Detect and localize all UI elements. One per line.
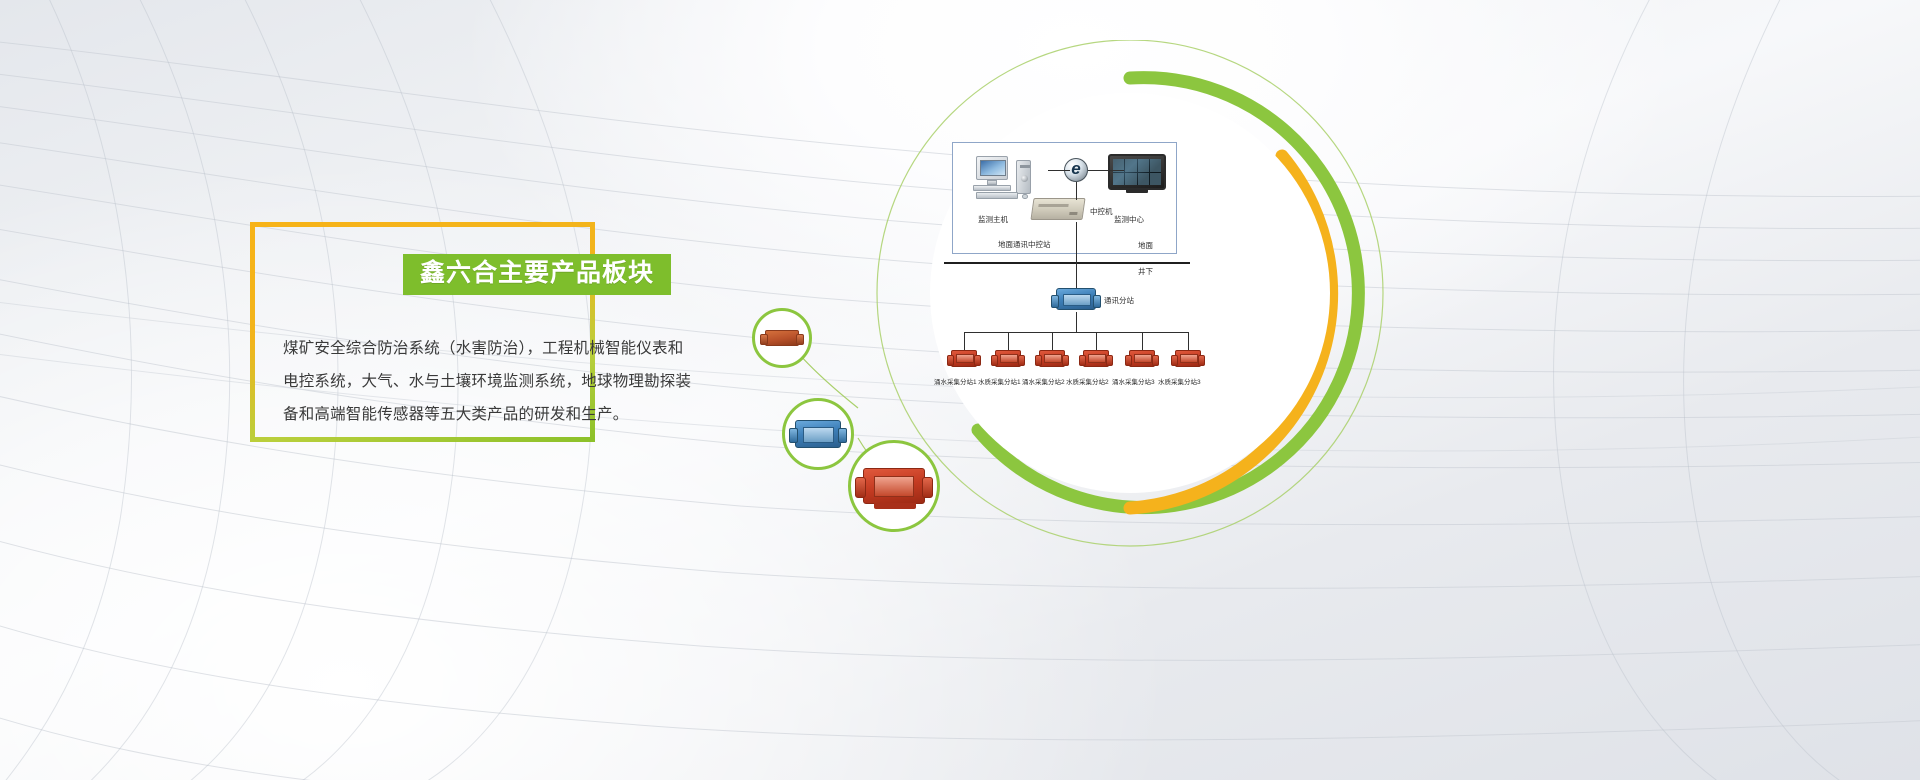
page-title-banner: 鑫六合主要产品板块 — [403, 254, 671, 295]
label-comm-substation: 通讯分站 — [1104, 295, 1134, 306]
label-station-1: 涌水采集分站1 — [934, 376, 977, 386]
link-cloud-to-controller — [1076, 182, 1077, 200]
station-riser — [1052, 332, 1053, 350]
blue-device-icon — [795, 420, 841, 448]
description-line-2: 电控系统，大气、水与土壤环境监测系统，地球物理勘探装 — [283, 365, 713, 398]
description-line-3: 备和高端智能传感器等五大类产品的研发和生产。 — [283, 398, 713, 431]
label-underground: 井下 — [1138, 266, 1153, 277]
label-monitor-host: 监测主机 — [978, 214, 1008, 225]
trunk-upper — [1076, 222, 1077, 264]
red-device-icon — [765, 330, 799, 346]
bubble-red-small[interactable] — [752, 308, 812, 368]
page-title: 鑫六合主要产品板块 — [420, 260, 654, 287]
label-monitor-center: 监测中心 — [1114, 214, 1144, 225]
label-station-4: 水质采集分站2 — [1066, 376, 1109, 386]
bubble-red-large[interactable] — [848, 440, 940, 532]
link-host-to-cloud — [1048, 170, 1070, 171]
label-station-5: 涌水采集分站3 — [1112, 376, 1155, 386]
label-station-3: 涌水采集分站2 — [1022, 376, 1065, 386]
bus-drop — [1076, 312, 1077, 332]
label-station-6: 水质采集分站3 — [1158, 376, 1201, 386]
label-station-2: 水质采集分站1 — [978, 376, 1021, 386]
product-description: 煤矿安全综合防治系统（水害防治），工程机械智能仪表和 电控系统，大气、水与土壤环… — [283, 332, 713, 431]
link-cloud-to-center — [1088, 170, 1124, 171]
station-riser — [1188, 332, 1189, 350]
red-device-icon — [863, 468, 925, 504]
label-ground: 地面 — [1138, 240, 1153, 251]
label-central-controller: 中控机 — [1090, 206, 1113, 217]
ground-divider — [944, 262, 1190, 264]
system-diagram: 监测主机 e 监测中心 中控机 地面通讯中控站 地面 井下 — [740, 40, 1420, 580]
station-bus — [964, 332, 1188, 333]
schematic-body: 监测主机 e 监测中心 中控机 地面通讯中控站 地面 井下 — [936, 140, 1336, 460]
blue-device-icon — [1056, 288, 1098, 312]
display-wall-icon — [1108, 154, 1170, 198]
bubble-blue[interactable] — [782, 398, 854, 470]
description-line-1: 煤矿安全综合防治系统（水害防治），工程机械智能仪表和 — [283, 332, 713, 365]
station-riser — [1008, 332, 1009, 350]
label-surface-station: 地面通讯中控站 — [998, 239, 1051, 250]
server-box-icon — [1032, 198, 1086, 222]
trunk-lower — [1076, 262, 1077, 288]
station-riser — [1142, 332, 1143, 350]
station-riser — [964, 332, 965, 350]
station-riser — [1096, 332, 1097, 350]
